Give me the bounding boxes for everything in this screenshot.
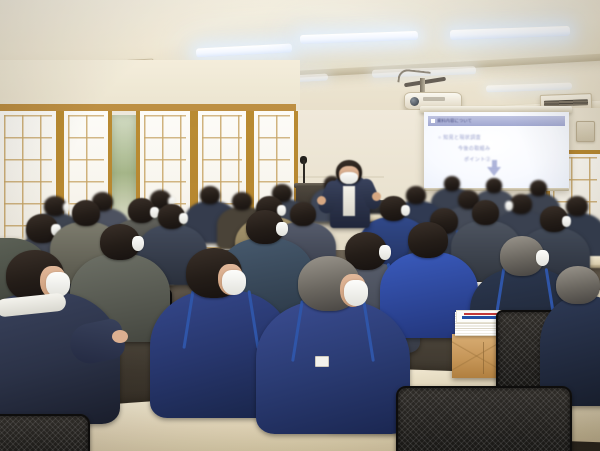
face-mask <box>379 245 391 260</box>
head <box>200 186 220 204</box>
presenter-face-mask <box>340 172 358 184</box>
torso <box>256 300 410 434</box>
presenter-shirt <box>343 186 355 216</box>
face-mask <box>179 213 188 224</box>
face-mask <box>222 270 246 295</box>
presenter-hand-right <box>372 192 381 201</box>
face-mask <box>63 203 70 212</box>
slide-body-line-1: ○ 知見と現状調査 <box>438 134 481 141</box>
slide-body-line-3: ポイント② <box>464 156 491 163</box>
head <box>406 186 426 204</box>
head <box>556 266 600 304</box>
chair-foreground-near[interactable] <box>396 386 572 451</box>
face-mask <box>536 250 549 266</box>
projector-brand-label <box>423 97 445 101</box>
head <box>290 202 316 226</box>
face-mask <box>562 216 571 227</box>
slide-bullet-icon <box>431 119 435 123</box>
presenter-hand-left <box>317 196 326 205</box>
head <box>232 192 252 210</box>
projector-lens-icon <box>410 97 419 106</box>
lanyard <box>256 300 410 434</box>
slide-header-text: 資料内容について <box>437 118 472 124</box>
face-mask <box>505 201 513 211</box>
head <box>566 196 588 216</box>
face-mask <box>344 280 368 306</box>
head <box>510 194 532 214</box>
name-badge <box>315 356 329 367</box>
chair-foreground-near-left[interactable] <box>0 414 90 451</box>
head <box>486 178 502 193</box>
head <box>444 176 460 191</box>
head <box>408 222 448 258</box>
lecture-room-photo: 資料内容について ○ 知見と現状調査 今後の取組み ポイント② <box>0 0 600 451</box>
hand <box>112 330 128 343</box>
face-mask <box>132 236 144 251</box>
face-mask <box>401 205 410 216</box>
slide-body-line-2: 今後の取組み <box>458 145 490 152</box>
face-mask <box>276 222 288 236</box>
head <box>72 200 100 226</box>
head <box>530 180 547 196</box>
head <box>472 200 499 225</box>
left-wall-upper <box>0 60 300 110</box>
slide-header-bar: 資料内容について <box>428 116 565 126</box>
down-arrow-icon <box>487 167 501 176</box>
wall-speaker <box>576 121 595 142</box>
